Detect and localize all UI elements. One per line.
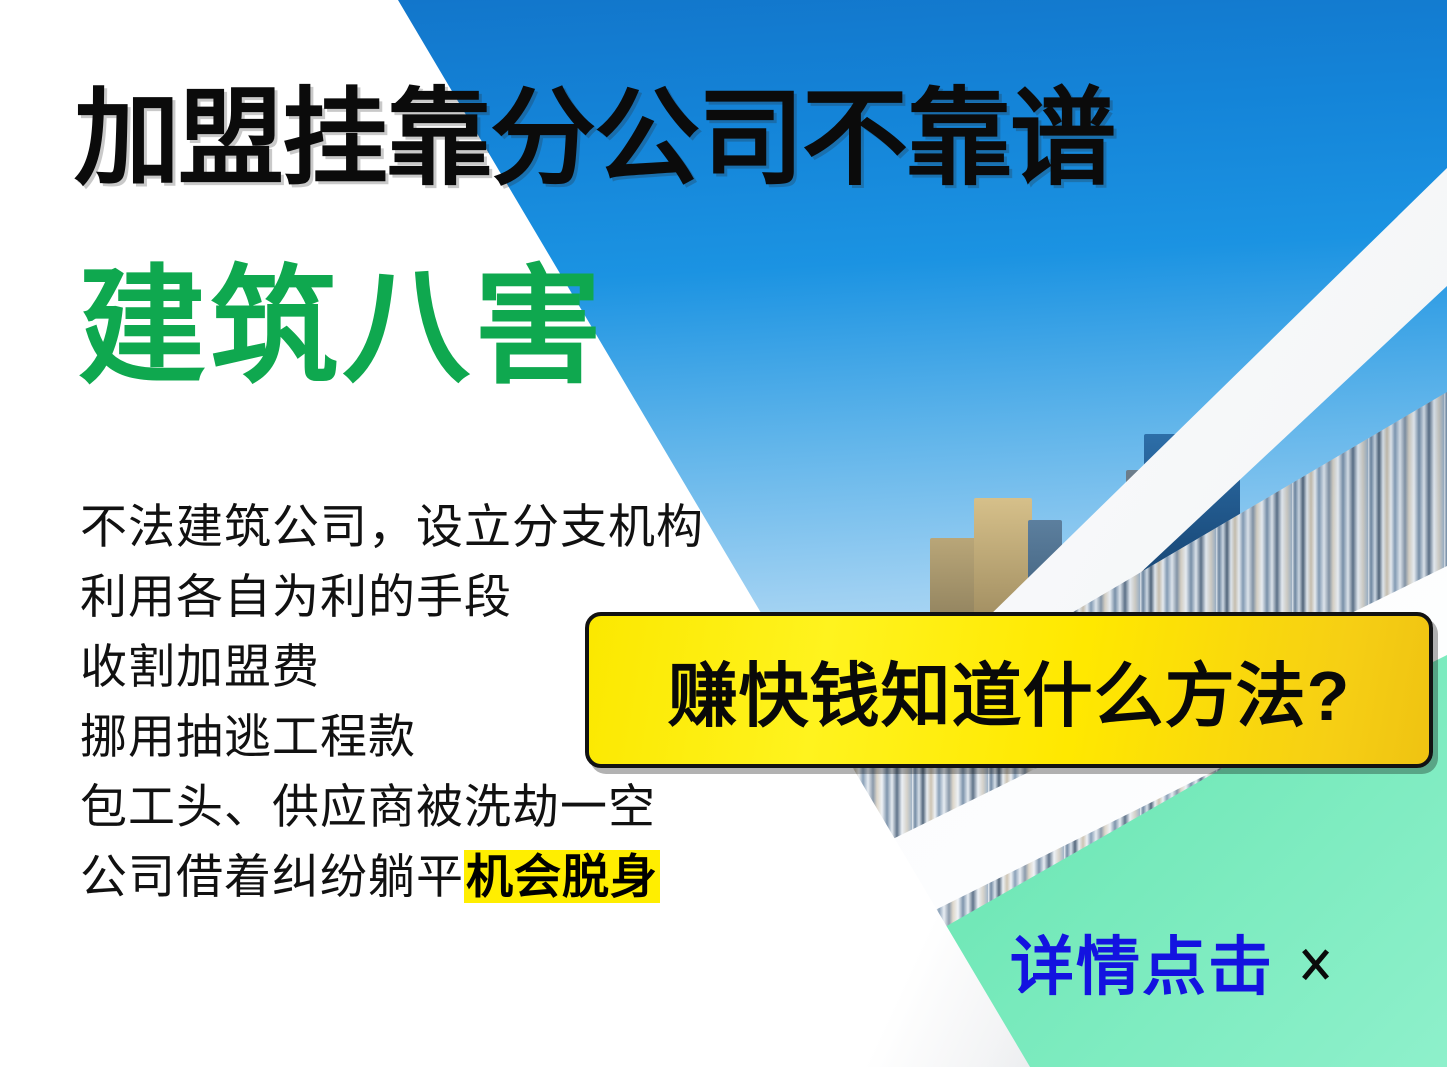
city-skyline-photo (930, 400, 1447, 630)
list-item-text: 收割加盟费 (80, 640, 320, 693)
chevron-right-icon (1300, 934, 1334, 990)
list-item: 公司借着纠纷躺平机会脱身 (80, 842, 780, 912)
list-item-text: 利用各自为利的手段 (80, 570, 512, 623)
highlighted-phrase: 机会脱身 (464, 850, 660, 903)
promo-poster: 加盟挂靠分公司不靠谱 建筑八害 不法建筑公司，设立分支机构 利用各自为利的手段 … (0, 0, 1447, 1067)
subtitle: 建筑八害 (78, 264, 606, 392)
details-cta-button[interactable]: 详情点击 (1010, 916, 1334, 1008)
list-item: 不法建筑公司，设立分支机构 (80, 492, 780, 562)
list-item: 包工头、供应商被洗劫一空 (80, 772, 780, 842)
list-item-text: 挪用抽逃工程款 (80, 710, 416, 763)
list-item-text: 公司借着纠纷躺平 (80, 850, 464, 903)
question-banner-text: 赚快钱知道什么方法? (668, 640, 1351, 741)
list-item-text: 包工头、供应商被洗劫一空 (80, 780, 656, 833)
list-item-text: 不法建筑公司，设立分支机构 (80, 500, 704, 553)
page-title: 加盟挂靠分公司不靠谱 (74, 86, 1114, 192)
details-cta-label: 详情点击 (1010, 916, 1274, 1008)
question-banner: 赚快钱知道什么方法? (585, 612, 1433, 768)
